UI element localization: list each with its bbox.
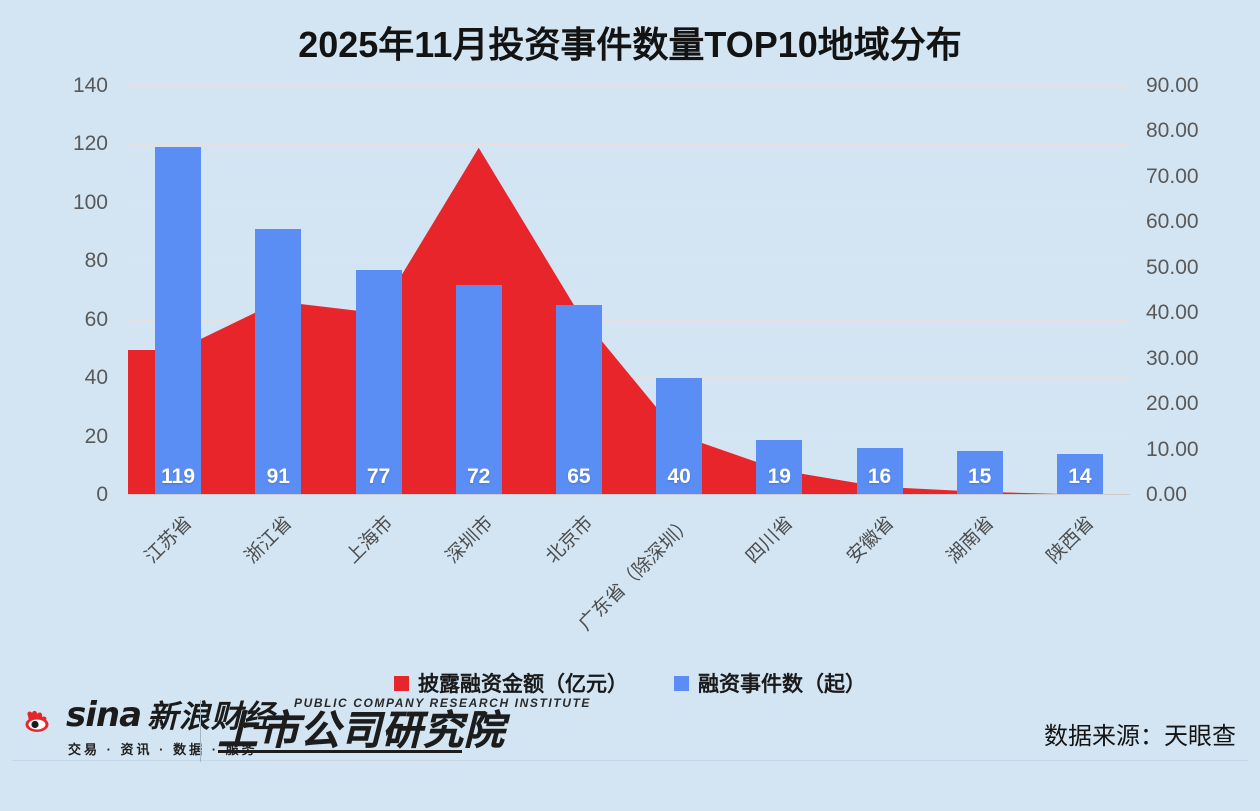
plot-area: 119917772654019161514: [128, 86, 1130, 495]
bar-value-label: 119: [155, 465, 201, 489]
bar: 91: [255, 229, 301, 495]
right-y-tick-label: 50.00: [1146, 256, 1199, 280]
left-y-tick-label: 0: [96, 483, 108, 507]
bar-value-label: 19: [756, 465, 802, 489]
bar: 77: [356, 270, 402, 495]
bar: 19: [756, 440, 802, 496]
data-source-note: 数据来源：天眼查: [1044, 716, 1236, 751]
bar-value-label: 72: [456, 465, 502, 489]
chart-page: 2025年11月投资事件数量TOP10地域分布 1199177726540191…: [0, 0, 1260, 786]
left-y-tick-label: 40: [85, 366, 108, 390]
institute-chinese-name: 上市公司研究院: [218, 710, 591, 752]
logo-divider: [200, 700, 201, 762]
bar-value-label: 65: [556, 465, 602, 489]
right-y-tick-label: 70.00: [1146, 165, 1199, 189]
bar-value-label: 16: [857, 465, 903, 489]
bar-value-label: 40: [656, 465, 702, 489]
bar: 14: [1057, 454, 1103, 495]
bar: 15: [957, 451, 1003, 495]
sina-wordmark: sina: [66, 698, 141, 732]
legend-swatch: [394, 676, 409, 691]
right-y-tick-label: 40.00: [1146, 301, 1199, 325]
footer: sina 新浪财经 交易 · 资讯 · 数据 · 服务 PUBLIC COMPA…: [0, 694, 1260, 786]
bar: 40: [656, 378, 702, 495]
bar: 65: [556, 305, 602, 495]
right-y-tick-label: 10.00: [1146, 438, 1199, 462]
x-axis-line: [128, 494, 1130, 495]
right-y-tick-label: 90.00: [1146, 74, 1199, 98]
institute-logo: PUBLIC COMPANY RESEARCH INSTITUTE 上市公司研究…: [218, 696, 591, 753]
left-y-tick-label: 20: [85, 425, 108, 449]
right-y-tick-label: 30.00: [1146, 347, 1199, 371]
right-y-tick-label: 60.00: [1146, 210, 1199, 234]
bar-value-label: 14: [1057, 465, 1103, 489]
bar: 16: [857, 448, 903, 495]
bar-value-label: 77: [356, 465, 402, 489]
bar: 119: [155, 147, 201, 495]
financing-event-bar-series: 119917772654019161514: [128, 86, 1130, 495]
legend-swatch: [674, 676, 689, 691]
right-y-tick-label: 20.00: [1146, 392, 1199, 416]
left-y-tick-label: 60: [85, 308, 108, 332]
bar-value-label: 15: [957, 465, 1003, 489]
left-y-tick-label: 120: [73, 132, 108, 156]
sina-eye-icon: [24, 710, 60, 736]
left-y-tick-label: 140: [73, 74, 108, 98]
right-y-tick-label: 0.00: [1146, 483, 1187, 507]
right-y-tick-label: 80.00: [1146, 119, 1199, 143]
bar-value-label: 91: [255, 465, 301, 489]
left-y-tick-label: 80: [85, 249, 108, 273]
left-y-tick-label: 100: [73, 191, 108, 215]
institute-english-name: PUBLIC COMPANY RESEARCH INSTITUTE: [294, 696, 591, 710]
bar: 72: [456, 285, 502, 495]
page-title: 2025年11月投资事件数量TOP10地域分布: [0, 16, 1260, 68]
